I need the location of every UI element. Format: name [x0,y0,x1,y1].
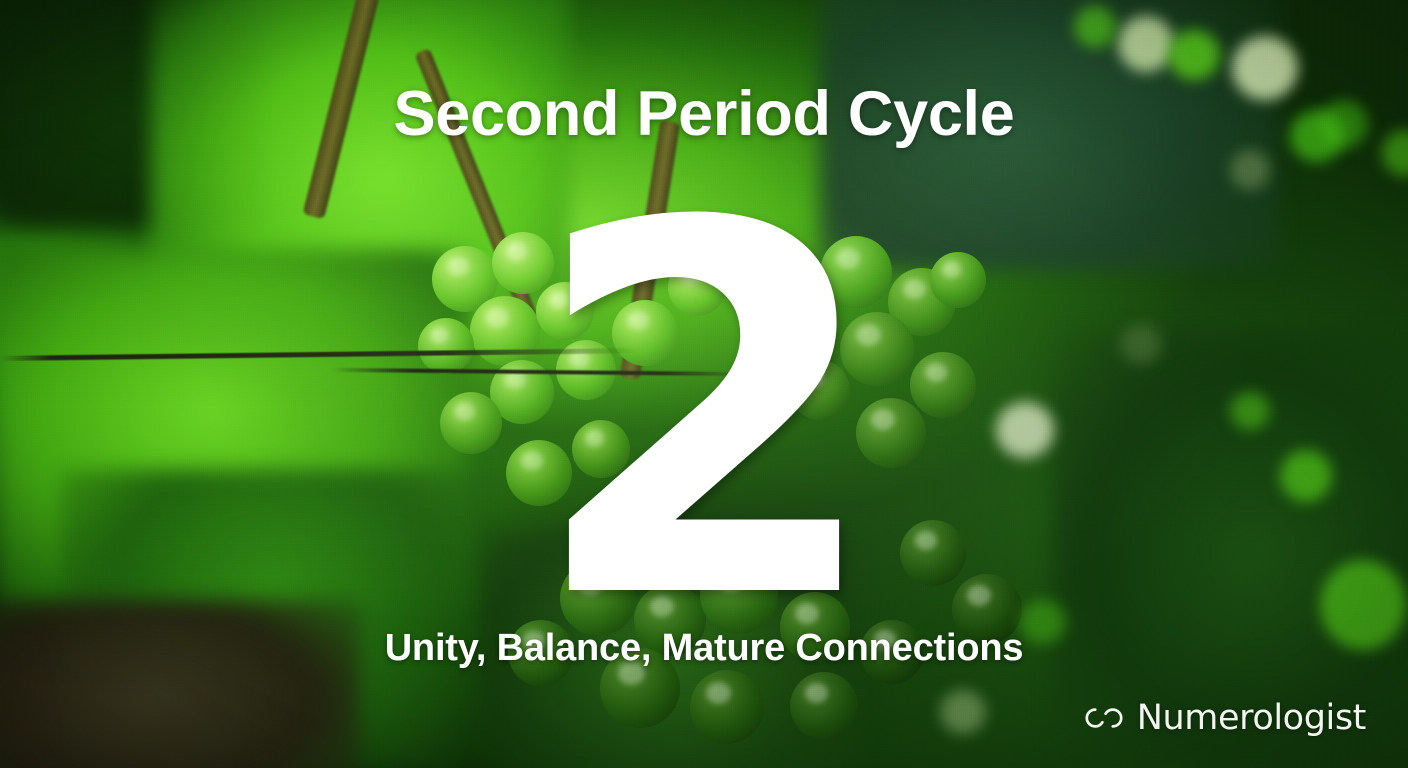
infinity-icon [1081,705,1127,731]
numerology-period-cycle-card: Second Period Cycle 2 Unity, Balance, Ma… [0,0,1408,768]
brand-logo[interactable]: Numerologist [1081,698,1366,738]
brand-name: Numerologist [1137,698,1366,738]
cycle-number: 2 [0,160,1408,670]
page-subtitle: Unity, Balance, Mature Connections [0,627,1408,670]
